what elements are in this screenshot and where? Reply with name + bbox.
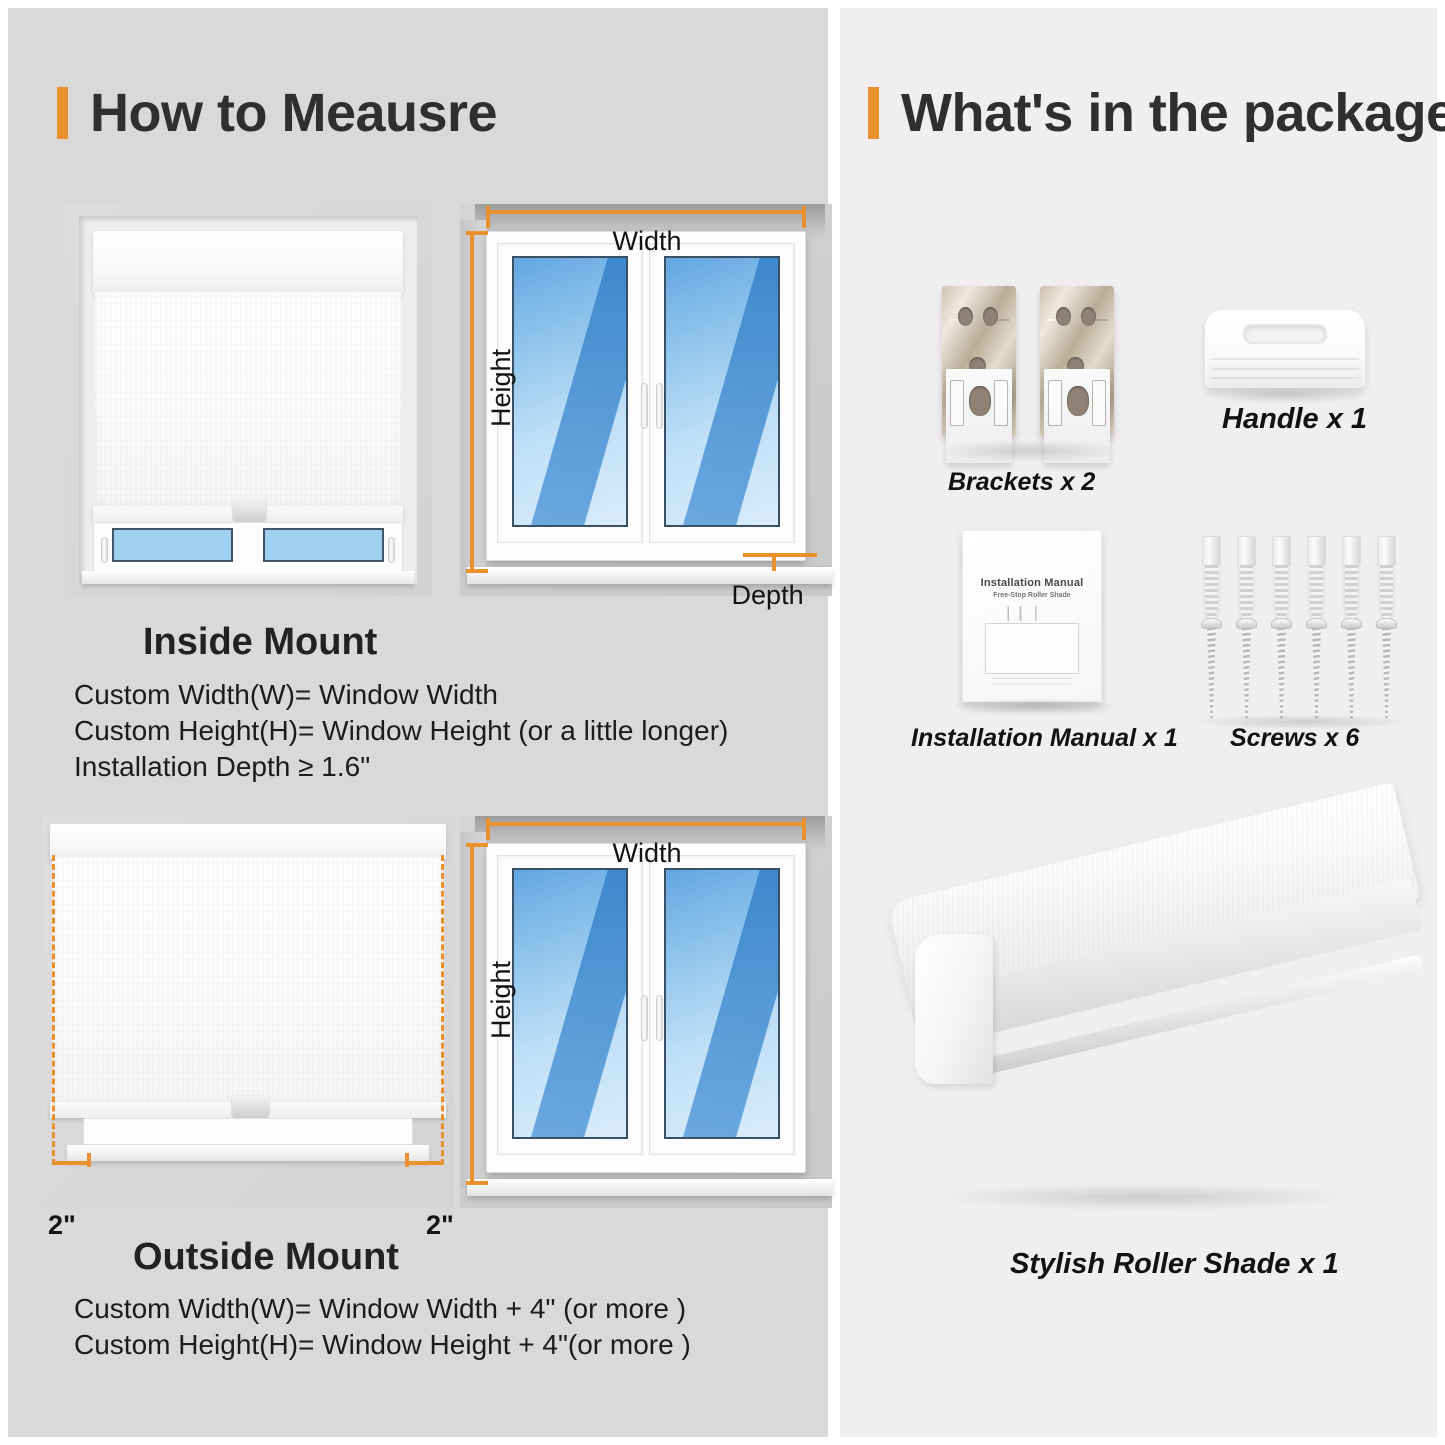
inside-mount-spec-2: Custom Height(H)= Window Height (or a li… [74, 715, 728, 747]
installation-manual-label: Installation Manual x 1 [911, 724, 1178, 753]
width-measure-line [486, 822, 806, 826]
outside-mount-spec-1: Custom Width(W)= Window Width + 4" (or m… [74, 1293, 686, 1325]
height-measure-line [470, 843, 474, 1184]
depth-measure-line [743, 553, 817, 557]
inside-mount-spec-3: Installation Depth ≥ 1.6" [74, 751, 370, 783]
wall-anchor-icon [1307, 536, 1326, 620]
shade-valance [50, 824, 446, 859]
window-glass-left [112, 528, 233, 562]
outside-mount-measure-diagram: Width Height [460, 816, 832, 1208]
screw-icon [1378, 618, 1395, 722]
screw-icon [1308, 618, 1325, 722]
screw-icon [1238, 618, 1255, 722]
package-heading: What's in the package [868, 82, 1445, 144]
overhang-guide-right [441, 855, 444, 1165]
shade-pull-handle [233, 500, 266, 522]
screw-icon [1203, 618, 1220, 722]
height-label: Height [486, 349, 517, 427]
wall-anchor-icon [1377, 536, 1396, 620]
infographic-page: How to Meausre [0, 0, 1445, 1445]
window-sill [67, 1145, 430, 1161]
wall-anchor-icon [1342, 536, 1361, 620]
manual-cover-subtitle: Free-Stop Roller Shade [963, 592, 1101, 599]
width-label: Width [613, 838, 682, 869]
shade-valance [93, 231, 402, 294]
screw-icon [1273, 618, 1290, 722]
roller-shade-icon [915, 900, 1425, 1200]
wall-anchor-icon [1272, 536, 1291, 620]
shade-fabric [52, 857, 443, 1104]
how-to-measure-panel: How to Meausre [8, 8, 828, 1437]
brackets-label: Brackets x 2 [948, 468, 1095, 497]
outside-mount-title: Outside Mount [133, 1236, 399, 1279]
accent-bar-icon [57, 87, 68, 139]
overhang-left-label: 2" [48, 1210, 76, 1241]
bracket-icon [1040, 286, 1114, 436]
how-to-measure-title: How to Meausre [90, 82, 497, 144]
inside-mount-spec-1: Custom Width(W)= Window Width [74, 679, 498, 711]
shade-pull-handle [232, 1096, 269, 1118]
wall-anchor-icon [1237, 536, 1256, 620]
screw-icon [1343, 618, 1360, 722]
inside-mount-shade-illustration [64, 204, 432, 596]
height-measure-line [470, 231, 474, 572]
inside-mount-title: Inside Mount [143, 621, 377, 664]
overhang-right-label: 2" [426, 1210, 454, 1241]
window-glass-right [263, 528, 384, 562]
screws-label: Screws x 6 [1230, 724, 1359, 753]
manual-icon: Installation Manual Free-Stop Roller Sha… [962, 530, 1102, 702]
width-measure-line [486, 210, 806, 214]
package-title: What's in the package [901, 82, 1445, 144]
inside-mount-measure-diagram: Width Height Depth [460, 204, 832, 596]
roller-shade-label: Stylish Roller Shade x 1 [1010, 1248, 1339, 1281]
outside-mount-shade-illustration [42, 816, 454, 1208]
manual-cover-title: Installation Manual [963, 577, 1101, 589]
height-label: Height [486, 961, 517, 1039]
handle-label: Handle x 1 [1222, 403, 1367, 436]
accent-bar-icon [868, 87, 879, 139]
wall-anchor-icon [1202, 536, 1221, 620]
outside-mount-spec-2: Custom Height(H)= Window Height + 4"(or … [74, 1329, 691, 1361]
handle-icon [1205, 310, 1365, 388]
bracket-icon [942, 286, 1016, 436]
depth-label: Depth [732, 580, 804, 611]
width-label: Width [613, 226, 682, 257]
package-contents-panel: What's in the package [840, 8, 1437, 1437]
overhang-guide-left [52, 855, 55, 1165]
how-to-measure-heading: How to Meausre [57, 82, 497, 144]
shade-fabric [95, 292, 400, 508]
window-sill [82, 571, 413, 585]
